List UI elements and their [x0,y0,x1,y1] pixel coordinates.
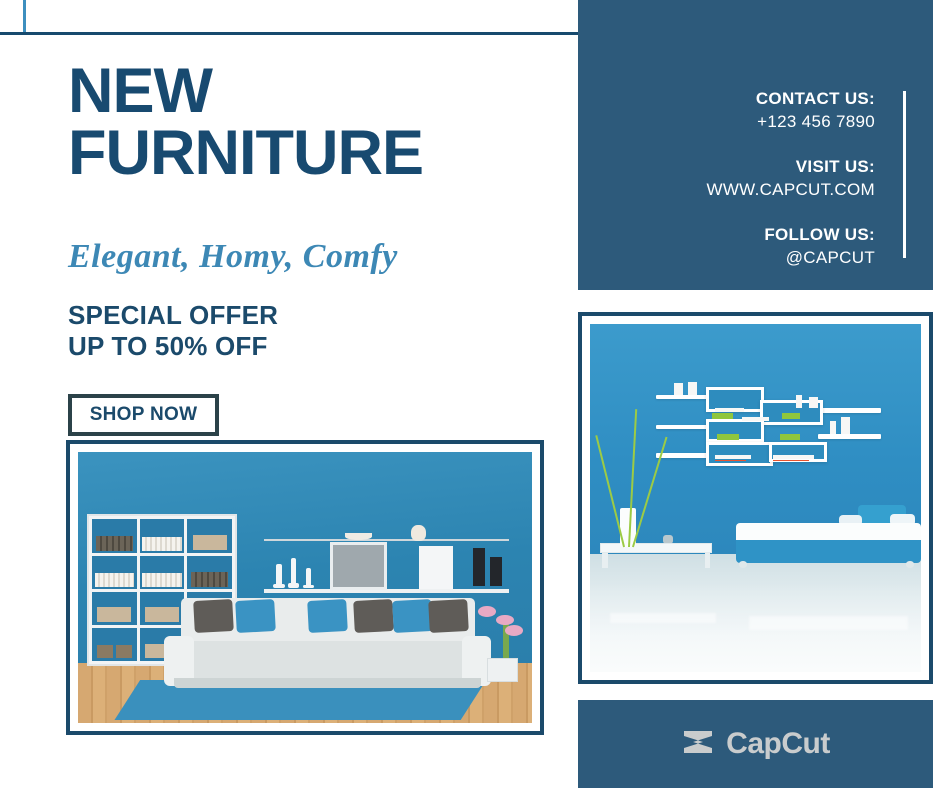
contact-group-social: FOLLOW US: @CAPCUT [706,224,875,270]
capcut-bowtie-icon [681,728,715,761]
offer-line-1: SPECIAL OFFER [68,300,278,331]
wall-shelves [656,380,881,474]
contact-group-phone: CONTACT US: +123 456 7890 [706,88,875,134]
sofa [164,598,491,687]
headline-line-2: FURNITURE [68,123,423,185]
follow-us-label: FOLLOW US: [706,224,875,247]
shop-now-button[interactable]: SHOP NOW [68,394,219,436]
daybed [736,505,921,568]
contact-vertical-accent-line [903,91,906,258]
offer-line-2: UP TO 50% OFF [68,331,278,362]
tagline: Elegant, Homy, Comfy [68,238,398,276]
phone-number[interactable]: +123 456 7890 [706,111,875,134]
capcut-branding-panel: CapCut [578,700,933,788]
social-handle[interactable]: @CAPCUT [706,247,875,270]
contact-info-block: CONTACT US: +123 456 7890 VISIT US: WWW.… [706,88,875,270]
vase [620,508,637,546]
wall-shelf-unit [264,539,509,593]
headline-line-1: NEW [68,61,423,123]
bedroom-photo [590,324,921,672]
contact-us-label: CONTACT US: [706,88,875,111]
bedroom-photo-frame [578,312,933,684]
special-offer-text: SPECIAL OFFER UP TO 50% OFF [68,300,278,362]
plant-pot [487,658,519,682]
contact-group-website: VISIT US: WWW.CAPCUT.COM [706,156,875,202]
capcut-wordmark: CapCut [726,727,830,761]
low-table [600,543,713,567]
living-room-photo-frame [66,440,544,735]
page-title: NEW FURNITURE [68,61,423,184]
living-room-photo [78,452,532,723]
visit-us-label: VISIT US: [706,156,875,179]
contact-panel: CONTACT US: +123 456 7890 VISIT US: WWW.… [578,0,933,290]
website-url[interactable]: WWW.CAPCUT.COM [706,179,875,202]
